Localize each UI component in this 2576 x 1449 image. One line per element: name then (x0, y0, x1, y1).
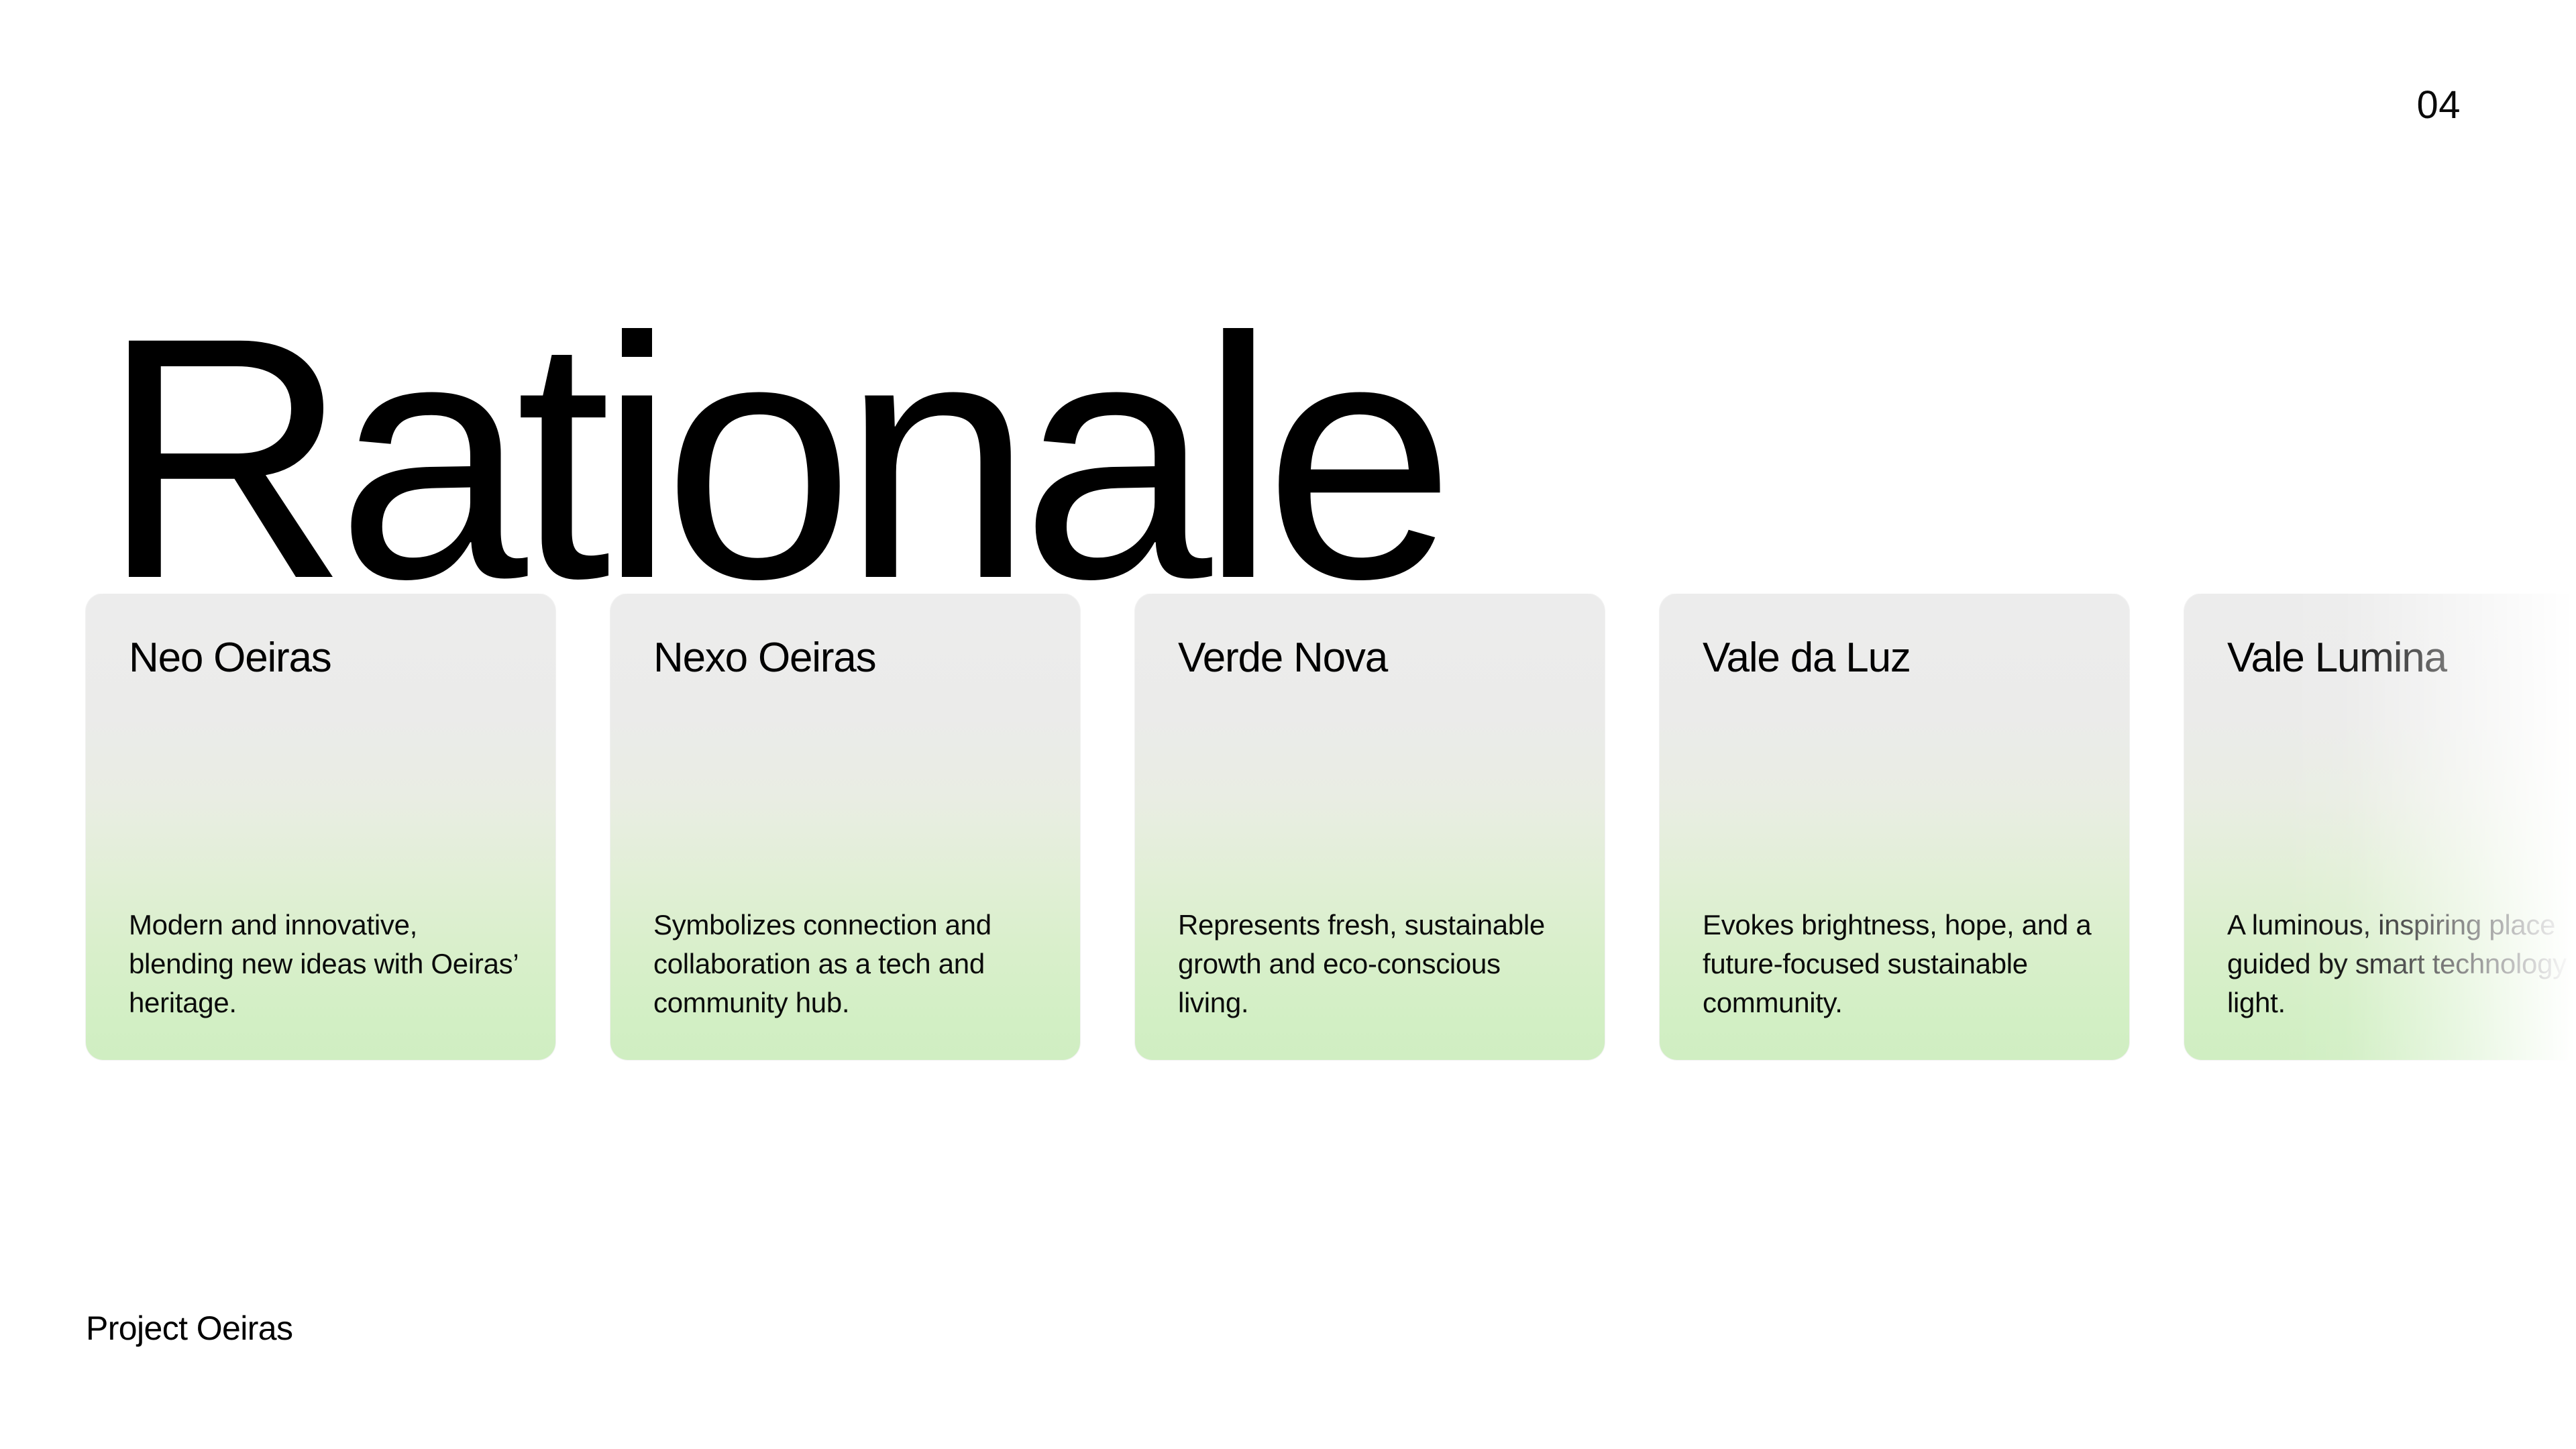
card-description: A luminous, inspiring place guided by sm… (2227, 906, 2576, 1022)
card-description: Symbolizes connection and collaboration … (653, 906, 1051, 1022)
card-title: Vale da Luz (1703, 635, 2090, 681)
card-description: Modern and innovative, blending new idea… (129, 906, 526, 1022)
card-title: Nexo Oeiras (653, 635, 1041, 681)
naming-options-track: Neo Oeiras Modern and innovative, blendi… (86, 594, 2576, 1060)
naming-option-card[interactable]: Neo Oeiras Modern and innovative, blendi… (86, 594, 555, 1060)
naming-options-carousel[interactable]: Neo Oeiras Modern and innovative, blendi… (0, 594, 2576, 1063)
card-title: Verde Nova (1178, 635, 1566, 681)
slide-rationale: 04 Rationale Neo Oeiras Modern and innov… (0, 0, 2576, 1449)
page-title: Rationale (101, 311, 1443, 606)
footer-project-label: Project Oeiras (86, 1311, 292, 1345)
page-number: 04 (2416, 86, 2461, 125)
naming-option-card[interactable]: Nexo Oeiras Symbolizes connection and co… (610, 594, 1080, 1060)
naming-option-card[interactable]: Verde Nova Represents fresh, sustainable… (1135, 594, 1605, 1060)
card-title: Neo Oeiras (129, 635, 517, 681)
card-title: Vale Lumina (2227, 635, 2576, 681)
card-description: Evokes brightness, hope, and a future-fo… (1703, 906, 2100, 1022)
card-description: Represents fresh, sustainable growth and… (1178, 906, 1575, 1022)
naming-option-card[interactable]: Vale da Luz Evokes brightness, hope, and… (1660, 594, 2129, 1060)
naming-option-card[interactable]: Vale Lumina A luminous, inspiring place … (2184, 594, 2576, 1060)
